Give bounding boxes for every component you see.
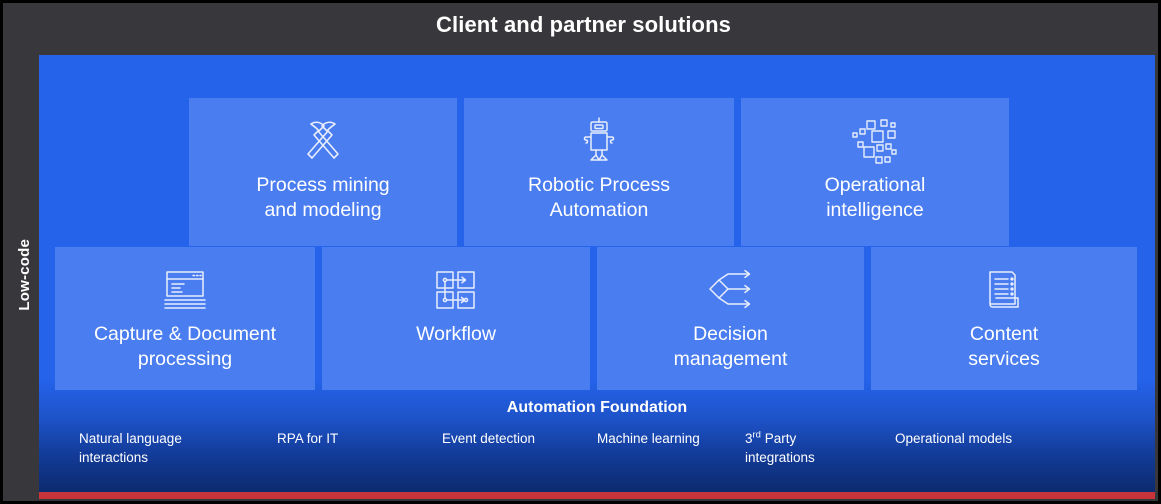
card-decision-management[interactable]: Decision management — [597, 247, 864, 390]
low-code-rail: Low-code — [9, 55, 39, 495]
low-code-label: Low-code — [16, 239, 33, 311]
document-window-icon — [162, 264, 208, 316]
card-label: Content services — [962, 322, 1046, 372]
card-content-services[interactable]: Content services — [871, 247, 1137, 390]
card-label: Workflow — [410, 322, 502, 347]
card-workflow[interactable]: Workflow — [322, 247, 590, 390]
third-party-ordinal: rd — [753, 430, 761, 441]
foundation-item: Operational models — [895, 429, 1075, 467]
card-process-mining[interactable]: Process mining and modeling — [189, 98, 457, 246]
pickaxe-hammer-icon — [298, 115, 348, 167]
foundation-item: Machine learning — [597, 429, 745, 467]
foundation-item: Event detection — [442, 429, 597, 467]
card-capture-document-processing[interactable]: Capture & Document processing — [55, 247, 315, 390]
foundation-item: Natural language interactions — [55, 429, 277, 467]
foundation-item: RPA for IT — [277, 429, 442, 467]
card-label: Decision management — [668, 322, 794, 372]
robot-icon — [577, 115, 621, 167]
card-robotic-process-automation[interactable]: Robotic Process Automation — [464, 98, 734, 246]
card-label: Process mining and modeling — [250, 173, 395, 223]
card-operational-intelligence[interactable]: Operational intelligence — [741, 98, 1009, 246]
third-party-number: 3 — [745, 431, 753, 446]
scattered-squares-icon — [848, 115, 902, 167]
foundation-item-third-party: 3rd Party integrations — [745, 429, 895, 467]
top-card-row: Process mining and modeling — [189, 98, 1151, 246]
card-label: Operational intelligence — [819, 173, 932, 223]
page-title: Client and partner solutions — [3, 12, 1161, 38]
accent-bar — [39, 492, 1155, 499]
bottom-card-row: Capture & Document processing — [55, 247, 1151, 390]
slide-canvas: Client and partner solutions Low-code Pr… — [0, 0, 1161, 504]
card-label: Capture & Document processing — [88, 322, 282, 372]
automation-foundation-title: Automation Foundation — [39, 399, 1155, 417]
decision-diamond-icon — [706, 264, 756, 316]
foundation-items: Natural language interactions RPA for IT… — [55, 429, 1145, 467]
workflow-nodes-icon — [433, 264, 479, 316]
card-label: Robotic Process Automation — [522, 173, 676, 223]
automation-panel: Process mining and modeling — [39, 55, 1155, 492]
content-document-icon — [984, 264, 1024, 316]
